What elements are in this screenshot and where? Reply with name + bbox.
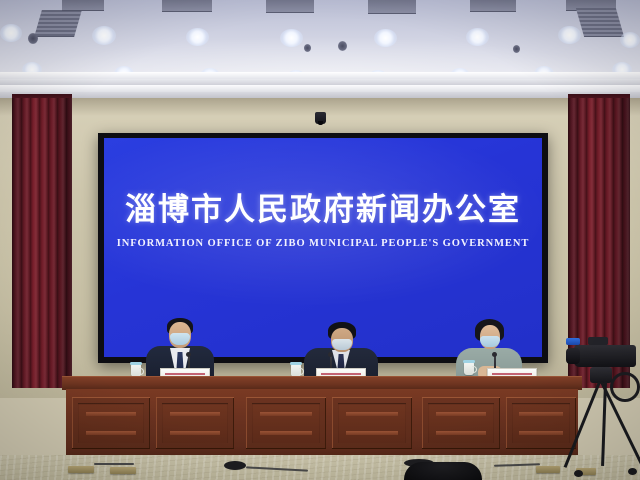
camera-tally-light xyxy=(566,338,580,345)
ceiling-speaker-icon xyxy=(304,44,311,52)
ceiling-vent xyxy=(62,0,104,11)
video-camera-body xyxy=(574,345,636,367)
table-panel-inner xyxy=(252,403,320,443)
ceiling-vent xyxy=(34,10,82,37)
tripod-head xyxy=(590,367,612,383)
table-panel-highlight xyxy=(170,412,220,416)
floor-cable xyxy=(94,463,134,465)
screen-subtitle-english: INFORMATION OFFICE OF ZIBO MUNICIPAL PEO… xyxy=(104,238,542,249)
table-front-panel xyxy=(66,389,578,461)
microphone-head-center xyxy=(328,352,333,357)
ceiling-downlight xyxy=(0,24,22,42)
screen-text-block: 淄博市人民政府新闻办公室 INFORMATION OFFICE OF ZIBO … xyxy=(104,184,542,249)
press-conference-photo: 淄博市人民政府新闻办公室 INFORMATION OFFICE OF ZIBO … xyxy=(0,0,640,480)
table-panel-highlight xyxy=(260,431,312,435)
camera-lens-icon xyxy=(566,348,580,364)
floor-outlet xyxy=(536,466,560,473)
table-panel xyxy=(72,397,150,449)
ceiling-vent xyxy=(368,0,416,14)
ceiling-downlight xyxy=(374,29,397,47)
cup-lid-right xyxy=(463,360,475,363)
table-panel-highlight xyxy=(436,412,486,416)
table-top-surface xyxy=(62,376,582,390)
table-panel-inner xyxy=(78,403,144,443)
table-panel xyxy=(422,397,500,449)
ceiling-downlight xyxy=(186,28,209,46)
tripod-foot xyxy=(574,470,583,477)
ceiling-downlight xyxy=(92,26,116,45)
ceiling-downlight xyxy=(558,26,581,44)
cornice-band xyxy=(0,85,640,92)
table-panel-highlight xyxy=(346,431,398,435)
panelist-right-face-mask xyxy=(480,336,500,347)
table-panel-inner xyxy=(512,403,570,443)
cup-right xyxy=(464,362,474,375)
microphone-head-left xyxy=(186,352,191,357)
ceiling-vent xyxy=(162,0,212,12)
tripod-foot xyxy=(628,468,637,475)
table-panel-highlight xyxy=(436,431,486,435)
floor-outlet xyxy=(110,467,136,474)
table-panel-highlight xyxy=(260,412,312,416)
ceiling-downlight xyxy=(466,28,489,46)
ceiling-vent xyxy=(576,8,624,37)
panelist-center-face-mask xyxy=(332,339,352,350)
cornice-band xyxy=(0,72,640,79)
camera-handle xyxy=(588,337,608,345)
cup-lid-left xyxy=(130,362,142,365)
table-panel-inner xyxy=(162,403,228,443)
cable-coil xyxy=(224,461,246,470)
table-panel xyxy=(332,397,412,449)
table-panel-inner xyxy=(338,403,406,443)
cable-reel xyxy=(610,372,640,402)
cup-lid-center xyxy=(290,362,302,365)
table-panel xyxy=(156,397,234,449)
screen-title-chinese: 淄博市人民政府新闻办公室 xyxy=(104,184,542,229)
ceiling-downlight xyxy=(280,29,303,47)
foreground-equipment xyxy=(404,462,482,480)
ceiling-speaker-icon xyxy=(28,33,38,44)
table-panel-highlight xyxy=(86,431,136,435)
curtain-left xyxy=(12,98,72,388)
table-panel-highlight xyxy=(519,412,563,416)
ceiling-speaker-icon xyxy=(513,45,520,53)
ceiling-downlight xyxy=(620,32,640,48)
table-panel-highlight xyxy=(346,412,398,416)
floor-outlet xyxy=(68,466,94,473)
table-panel-highlight xyxy=(86,412,136,416)
table-panel-inner xyxy=(428,403,494,443)
ceiling-vent xyxy=(470,0,516,12)
microphone-head-right xyxy=(492,352,497,357)
table-panel xyxy=(246,397,326,449)
ceiling-speaker-icon xyxy=(338,41,347,51)
table-panel xyxy=(506,397,576,449)
ceiling-vent xyxy=(266,0,314,13)
table-panel-highlight xyxy=(519,431,563,435)
table-panel-highlight xyxy=(170,431,220,435)
surveillance-camera-icon xyxy=(315,112,326,124)
